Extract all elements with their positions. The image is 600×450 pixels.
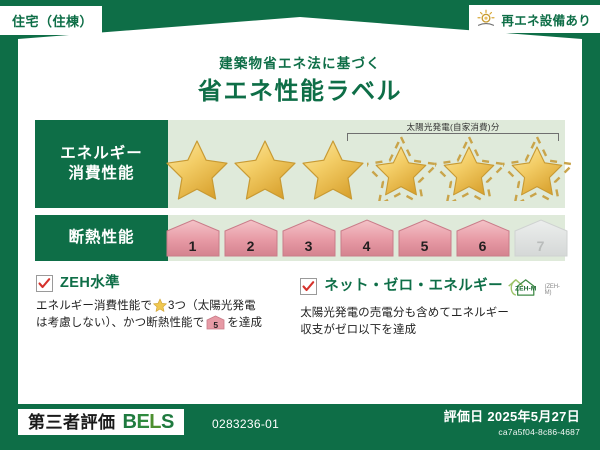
insulation-level-number: 5 — [397, 239, 453, 253]
insulation-level-number: 6 — [455, 239, 511, 253]
zeh-desc-part1: エネルギー消費性能で — [36, 300, 152, 312]
renewable-flag-label: 再エネ設備あり — [501, 10, 591, 29]
insulation-performance-row: 断熱性能 — [35, 215, 565, 261]
certificate-id: 0283236-01 — [212, 417, 279, 431]
insulation-performance-label: 断熱性能 — [35, 215, 168, 261]
evaluation-date: 評価日 2025年5月27日 — [444, 410, 580, 425]
criterion-zeh: ZEH水準 エネルギー消費性能で3つ（太陽光発電 は考慮しない）、かつ断熱性能で… — [36, 275, 282, 341]
zeh-m-badge-sub: (ZEH-M) — [545, 284, 564, 299]
footer-right: 評価日 2025年5月27日 ca7a5f04-8c86-4687 — [444, 410, 580, 437]
evaluation-hash: ca7a5f04-8c86-4687 — [444, 427, 580, 437]
criterion-zeh-header: ZEH水準 — [36, 275, 272, 292]
insulation-level: 1 — [165, 218, 221, 258]
criteria-section: ZEH水準 エネルギー消費性能で3つ（太陽光発電 は考慮しない）、かつ断熱性能で… — [35, 275, 565, 341]
insulation-level-number: 3 — [281, 239, 337, 253]
energy-label-line2: 消費性能 — [68, 164, 134, 184]
criterion-zeh-title: ZEH水準 — [60, 276, 120, 291]
energy-performance-body: 太陽光発電(自家消費)分 — [168, 120, 565, 208]
insulation-level-number: 7 — [513, 239, 569, 253]
star-solid — [231, 135, 299, 201]
building-type-chip: 住宅（住棟） — [0, 6, 102, 35]
zeh-checkbox[interactable] — [36, 275, 53, 292]
nze-desc-line2: 収支がゼロ以下を達成 — [300, 324, 416, 336]
criterion-nze-title: ネット・ゼロ・エネルギー — [324, 279, 503, 294]
criterion-nze-description: 太陽光発電の売電分も含めてエネルギー 収支がゼロ以下を達成 — [300, 305, 564, 341]
insulation-label-text: 断熱性能 — [68, 228, 134, 248]
star-solid — [163, 135, 231, 201]
star-rating — [168, 120, 565, 208]
bels-logo: BELS — [123, 412, 174, 432]
renewable-equipment-flag: 再エネ設備あり — [469, 5, 600, 33]
star-solid — [299, 135, 367, 201]
star-solar — [503, 135, 571, 201]
svg-text:ZEH-M: ZEH-M — [515, 285, 537, 292]
nze-checkbox[interactable] — [300, 278, 317, 295]
insulation-level: 2 — [223, 218, 279, 258]
third-party-label: 第三者評価 — [28, 414, 116, 431]
criterion-nze-header: ネット・ゼロ・エネルギー ZEH-M (ZEH-M) — [300, 275, 564, 299]
zeh-desc-part3: を達成 — [227, 317, 262, 329]
insulation-performance-body: 1 2 — [168, 215, 565, 261]
inline-star-icon — [153, 298, 167, 312]
insulation-level-number: 4 — [339, 239, 395, 253]
performance-rows: エネルギー 消費性能 太陽光発電(自家消費)分 — [35, 120, 565, 261]
label-card: 建築物省エネ法に基づく 省エネ性能ラベル エネルギー 消費性能 太陽光発電(自家… — [18, 17, 582, 404]
star-solar — [367, 135, 435, 201]
zeh-m-badge: ZEH-M (ZEH-M) — [506, 275, 564, 299]
criterion-nze: ネット・ゼロ・エネルギー ZEH-M (ZEH-M) 太陽 — [282, 275, 564, 341]
nze-desc-line1: 太陽光発電の売電分も含めてエネルギー — [300, 307, 509, 319]
zeh-desc-part2: は考慮しない）、かつ断熱性能で — [36, 317, 204, 329]
bels-chip: 第三者評価 BELS — [18, 409, 184, 435]
energy-performance-label: エネルギー 消費性能 — [35, 120, 168, 208]
label-footer: 第三者評価 BELS 0283236-01 評価日 2025年5月27日 ca7… — [0, 404, 600, 450]
insulation-level: 6 — [455, 218, 511, 258]
insulation-level-scale: 1 2 — [168, 215, 565, 261]
insulation-level: 5 — [397, 218, 453, 258]
insulation-level-number: 2 — [223, 239, 279, 253]
energy-label-line1: エネルギー — [60, 144, 143, 164]
sun-renewable-icon — [476, 9, 496, 29]
energy-performance-row: エネルギー 消費性能 太陽光発電(自家消費)分 — [35, 120, 565, 208]
label-subtitle: 建築物省エネ法に基づく — [35, 57, 565, 71]
insulation-level-inactive: 7 — [513, 218, 569, 258]
criterion-zeh-description: エネルギー消費性能で3つ（太陽光発電 は考慮しない）、かつ断熱性能で5を達成 — [36, 298, 272, 334]
star-solar — [435, 135, 503, 201]
inline-house-icon: 5 — [206, 315, 225, 330]
insulation-level: 3 — [281, 218, 337, 258]
zeh-desc-star-count: 3つ（太陽光発電 — [168, 300, 256, 312]
label-title: 省エネ性能ラベル — [35, 80, 565, 104]
energy-label-root: 住宅（住棟） 再エネ設備あり 建築物省エネ法に基づく 省エネ性能ラベル — [0, 0, 600, 450]
insulation-level: 4 — [339, 218, 395, 258]
inline-house-level: 5 — [206, 321, 225, 330]
insulation-level-number: 1 — [165, 239, 221, 253]
